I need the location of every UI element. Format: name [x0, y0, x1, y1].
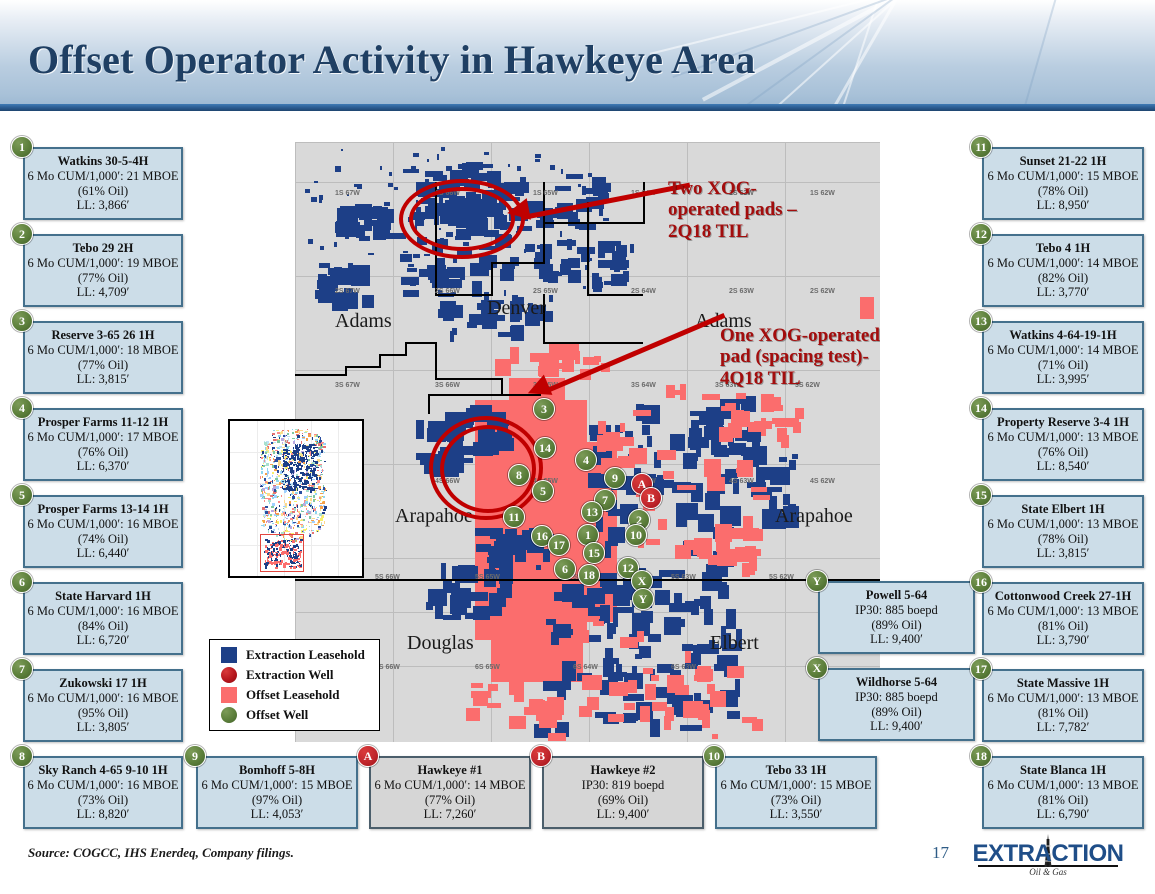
well-card-badge-2[interactable]: 2: [11, 223, 33, 245]
well-card-title: Powell 5-64: [866, 588, 927, 603]
well-card-metric: (77% Oil): [78, 358, 128, 373]
offset-leasehold-block: [753, 495, 770, 500]
inset-acreage-speck: [300, 520, 302, 521]
inset-acreage-speck: [302, 452, 304, 454]
extraction-leasehold-block: [400, 254, 412, 262]
county-boundary-segment: [643, 182, 645, 224]
well-card[interactable]: Sunset 21-22 1H6 Mo CUM/1,000′: 15 MBOE(…: [982, 147, 1144, 220]
well-card-metric: 6 Mo CUM/1,000′: 15 MBOE: [201, 778, 352, 793]
inset-acreage-speck: [312, 479, 315, 480]
inset-acreage-speck: [291, 478, 292, 479]
offset-leasehold-block: [559, 343, 571, 356]
inset-acreage-speck: [276, 457, 279, 459]
map-well-marker-5[interactable]: 5: [532, 480, 554, 502]
inset-acreage-speck: [274, 495, 277, 498]
extraction-leasehold-speck: [446, 166, 452, 171]
callout-ellipse-top-inner: [409, 187, 515, 251]
well-card[interactable]: Prosper Farms 13-14 1H6 Mo CUM/1,000′: 1…: [23, 495, 183, 568]
well-card[interactable]: Reserve 3-65 26 1H6 Mo CUM/1,000′: 18 MB…: [23, 321, 183, 394]
well-card-badge-A[interactable]: A: [357, 745, 379, 767]
well-card-metric: 6 Mo CUM/1,000′: 18 MBOE: [27, 343, 178, 358]
offset-leasehold-block: [651, 675, 659, 681]
map-well-marker-9[interactable]: 9: [604, 467, 626, 489]
extraction-leasehold-block: [497, 544, 509, 553]
well-card-metric: (77% Oil): [78, 271, 128, 286]
inset-acreage-speck: [314, 506, 315, 509]
well-card-badge-3[interactable]: 3: [11, 310, 33, 332]
extraction-leasehold-speck: [598, 282, 603, 288]
offset-leasehold-block: [694, 675, 705, 681]
inset-acreage-speck: [315, 488, 318, 489]
inset-acreage-speck: [269, 525, 272, 526]
map-well-marker-3[interactable]: 3: [533, 398, 555, 420]
inset-acreage-speck: [299, 479, 302, 482]
township-label: 6S 63W: [671, 664, 696, 671]
map-well-marker-18[interactable]: 18: [578, 564, 600, 586]
well-card[interactable]: Bomhoff 5-8H6 Mo CUM/1,000′: 15 MBOE(97%…: [196, 756, 358, 829]
inset-acreage-speck: [272, 480, 273, 483]
inset-acreage-speck: [276, 516, 277, 517]
well-card[interactable]: Cottonwood Creek 27-1H6 Mo CUM/1,000′: 1…: [982, 582, 1144, 655]
inset-acreage-speck: [310, 502, 311, 504]
legend-swatch-square: [221, 687, 237, 703]
offset-leasehold-block: [466, 708, 480, 721]
inset-acreage-speck: [279, 505, 280, 507]
extraction-leasehold-block: [609, 533, 618, 546]
inset-acreage-speck: [287, 516, 289, 517]
inset-acreage-speck: [288, 497, 291, 498]
inset-acreage-speck: [263, 497, 264, 498]
legend-item: Extraction Leasehold: [210, 645, 379, 665]
inset-acreage-speck: [321, 474, 323, 475]
well-card[interactable]: State Massive 1H6 Mo CUM/1,000′: 13 MBOE…: [982, 669, 1144, 742]
extraction-leasehold-block: [426, 602, 433, 610]
inset-acreage-speck: [290, 462, 293, 464]
well-card-metric: LL: 7,260′: [424, 807, 477, 822]
inset-acreage-speck: [283, 468, 284, 469]
well-card[interactable]: State Elbert 1H6 Mo CUM/1,000′: 13 MBOE(…: [982, 495, 1144, 568]
well-card[interactable]: Tebo 33 1H6 Mo CUM/1,000′: 15 MBOE(73% O…: [715, 756, 877, 829]
well-card-metric: IP30: 819 boepd: [582, 778, 665, 793]
map-well-marker-11[interactable]: 11: [503, 506, 525, 528]
offset-leasehold-block: [777, 428, 787, 442]
extraction-leasehold-block: [789, 460, 796, 470]
inset-acreage-speck: [281, 513, 283, 516]
inset-acreage-speck: [287, 475, 288, 476]
inset-acreage-speck: [271, 510, 274, 512]
extraction-leasehold-block: [705, 493, 720, 510]
county-boundary-segment: [501, 378, 503, 394]
offset-leasehold-block: [727, 666, 744, 678]
well-card[interactable]: Hawkeye #16 Mo CUM/1,000′: 14 MBOE(77% O…: [369, 756, 531, 829]
extraction-leasehold-speck: [583, 286, 586, 289]
inset-acreage-speck: [319, 477, 321, 480]
inset-acreage-speck: [274, 465, 277, 468]
well-card-metric: LL: 3,995′: [1037, 372, 1090, 387]
well-card-badge-8[interactable]: 8: [11, 745, 33, 767]
offset-leasehold-block: [509, 682, 524, 695]
inset-acreage-speck: [269, 502, 270, 504]
well-card[interactable]: Tebo 4 1H6 Mo CUM/1,000′: 14 MBOE(82% Oi…: [982, 234, 1144, 307]
map-well-marker-15[interactable]: 15: [583, 542, 605, 564]
offset-leasehold-block: [539, 712, 557, 728]
inset-acreage-speck: [313, 495, 315, 498]
well-card[interactable]: Watkins 30-5-4H6 Mo CUM/1,000′: 21 MBOE(…: [23, 147, 183, 220]
offset-leasehold-block: [772, 418, 778, 424]
inset-acreage-speck: [273, 442, 276, 443]
well-card-badge-12[interactable]: 12: [970, 223, 992, 245]
inset-acreage-speck: [315, 453, 318, 456]
inset-acreage-speck: [322, 469, 323, 472]
extraction-leasehold-block: [557, 240, 576, 246]
county-boundary-segment: [379, 354, 381, 368]
inset-acreage-speck: [306, 513, 308, 515]
legend-label: Extraction Well: [246, 667, 334, 683]
well-card-badge-6[interactable]: 6: [11, 571, 33, 593]
offset-leasehold-block: [717, 549, 737, 566]
inset-acreage-speck: [283, 508, 284, 509]
inset-acreage-speck: [304, 486, 307, 488]
inset-acreage-speck: [273, 430, 275, 431]
inset-acreage-speck: [293, 447, 294, 449]
legend-swatch-square: [221, 647, 237, 663]
offset-leasehold-block: [742, 717, 757, 723]
inset-acreage-speck: [297, 488, 298, 491]
map-well-marker-4[interactable]: 4: [575, 449, 597, 471]
inset-acreage-speck: [295, 446, 297, 448]
extraction-leasehold-block: [699, 413, 707, 425]
offset-leasehold-block: [795, 408, 804, 419]
inset-acreage-speck: [295, 478, 296, 479]
inset-acreage-speck: [261, 471, 263, 474]
township-label: 5S 63W: [671, 574, 696, 581]
offset-leasehold-block: [624, 703, 635, 710]
inset-overview-map[interactable]: [228, 419, 364, 578]
map-well-marker-Y[interactable]: Y: [632, 588, 654, 610]
inset-acreage-speck: [321, 450, 323, 453]
extraction-leasehold-block: [718, 445, 727, 454]
extraction-leasehold-speck: [561, 169, 563, 174]
extraction-leasehold-block: [593, 180, 605, 196]
inset-acreage-speck: [287, 456, 289, 457]
inset-acreage-speck: [262, 451, 264, 454]
inset-acreage-speck: [289, 489, 290, 492]
extraction-leasehold-block: [700, 596, 711, 609]
county-label: Douglas: [407, 632, 474, 655]
well-card[interactable]: Hawkeye #2IP30: 819 boepd(69% Oil)LL: 9,…: [542, 756, 704, 829]
well-card[interactable]: State Blanca 1H6 Mo CUM/1,000′: 13 MBOE(…: [982, 756, 1144, 829]
well-card-metric: (73% Oil): [78, 793, 128, 808]
inset-acreage-speck: [263, 520, 265, 523]
well-card-title: State Harvard 1H: [55, 589, 151, 604]
well-card-title: Watkins 4-64-19-1H: [1009, 328, 1116, 343]
offset-leasehold-block: [488, 684, 498, 691]
county-boundary-segment: [405, 342, 435, 344]
well-card-title: Tebo 33 1H: [766, 763, 827, 778]
extraction-leasehold-speck: [388, 183, 393, 187]
well-card-metric: (82% Oil): [1038, 271, 1088, 286]
county-boundary-segment: [295, 374, 345, 376]
inset-acreage-speck: [313, 460, 314, 462]
inset-acreage-speck: [315, 447, 318, 448]
well-card-badge-17[interactable]: 17: [970, 658, 992, 680]
inset-acreage-speck: [308, 481, 309, 483]
extraction-leasehold-block: [500, 269, 514, 281]
inset-acreage-speck: [318, 486, 321, 489]
extraction-leasehold-block: [335, 222, 339, 233]
well-card[interactable]: State Harvard 1H6 Mo CUM/1,000′: 16 MBOE…: [23, 582, 183, 655]
well-card-badge-X[interactable]: X: [806, 657, 828, 679]
well-card[interactable]: Wildhorse 5-64IP30: 885 boepd(89% Oil)LL…: [818, 668, 975, 741]
extraction-leasehold-block: [340, 206, 358, 217]
extraction-leasehold-block: [577, 247, 595, 254]
township-label: 3S 67W: [335, 382, 360, 389]
well-card-metric: (71% Oil): [1038, 358, 1088, 373]
well-card-badge-9[interactable]: 9: [184, 745, 206, 767]
extraction-leasehold-speck: [357, 184, 362, 189]
well-card-metric: (78% Oil): [1038, 184, 1088, 199]
inset-acreage-speck: [290, 484, 291, 485]
extraction-leasehold-block: [676, 512, 687, 527]
extraction-leasehold-block: [792, 454, 798, 459]
inset-acreage-speck: [293, 472, 294, 474]
inset-acreage-speck: [273, 462, 275, 463]
inset-acreage-speck: [274, 480, 275, 481]
extraction-leasehold-speck: [578, 184, 581, 187]
extraction-leasehold-block: [714, 664, 725, 671]
inset-acreage-speck: [320, 493, 323, 494]
legend-label: Extraction Leasehold: [246, 647, 365, 663]
extraction-leasehold-block: [317, 280, 336, 289]
extraction-leasehold-speck: [334, 242, 337, 247]
offset-leasehold-block: [593, 621, 604, 626]
inset-acreage-speck: [283, 435, 285, 437]
well-card-badge-13[interactable]: 13: [970, 310, 992, 332]
well-card-badge-18[interactable]: 18: [970, 745, 992, 767]
well-card-badge-16[interactable]: 16: [970, 571, 992, 593]
extraction-leasehold-block: [616, 664, 622, 673]
well-card-badge-1[interactable]: 1: [11, 136, 33, 158]
inset-acreage-speck: [302, 459, 304, 462]
well-card-metric: (61% Oil): [78, 184, 128, 199]
legend-label: Offset Well: [246, 707, 308, 723]
inset-acreage-speck: [265, 481, 267, 483]
township-label: 2S 62W: [810, 288, 835, 295]
map-well-marker-14[interactable]: 14: [534, 437, 556, 459]
inset-focus-box: [260, 534, 304, 572]
well-card-badge-4[interactable]: 4: [11, 397, 33, 419]
well-card-metric: 6 Mo CUM/1,000′: 21 MBOE: [27, 169, 178, 184]
extraction-leasehold-block: [623, 271, 629, 282]
township-label: 4S 63W: [729, 478, 754, 485]
extraction-leasehold-block: [726, 609, 736, 629]
inset-acreage-speck: [313, 510, 314, 512]
extraction-leasehold-speck: [308, 239, 313, 244]
inset-acreage-speck: [306, 449, 308, 450]
extraction-leasehold-speck: [311, 197, 317, 202]
well-card-badge-10[interactable]: 10: [703, 745, 725, 767]
inset-acreage-speck: [292, 432, 294, 434]
well-card[interactable]: Tebo 29 2H6 Mo CUM/1,000′: 19 MBOE(77% O…: [23, 234, 183, 307]
extraction-leasehold-block: [566, 174, 583, 179]
inset-acreage-speck: [260, 457, 261, 458]
extraction-leasehold-block: [403, 290, 419, 297]
extraction-leasehold-block: [469, 592, 488, 601]
well-card-title: State Elbert 1H: [1021, 502, 1104, 517]
extraction-leasehold-block: [358, 277, 364, 286]
offset-leasehold-block: [742, 566, 750, 577]
extraction-leasehold-speck: [314, 181, 318, 183]
extraction-leasehold-block: [371, 207, 388, 215]
map-well-marker-10[interactable]: 10: [625, 524, 647, 546]
well-card-metric: LL: 8,540′: [1037, 459, 1090, 474]
inset-acreage-speck: [320, 460, 322, 461]
township-label: 3S 64W: [631, 382, 656, 389]
offset-leasehold-block: [663, 471, 674, 479]
offset-leasehold-block: [735, 410, 744, 416]
extraction-leasehold-block: [680, 725, 702, 731]
inset-acreage-speck: [296, 484, 299, 486]
extraction-leasehold-block: [598, 248, 605, 258]
inset-acreage-speck: [295, 492, 298, 494]
inset-acreage-speck: [282, 456, 284, 457]
well-card[interactable]: Property Reserve 3-4 1H6 Mo CUM/1,000′: …: [982, 408, 1144, 481]
well-card-metric: (76% Oil): [1038, 445, 1088, 460]
inset-acreage-speck: [322, 491, 325, 492]
inset-acreage-speck: [309, 496, 312, 497]
extraction-leasehold-block: [727, 711, 740, 719]
well-card-badge-Y[interactable]: Y: [806, 570, 828, 592]
township-label: 2S 67W: [335, 288, 360, 295]
well-card[interactable]: Prosper Farms 11-12 1H6 Mo CUM/1,000′: 1…: [23, 408, 183, 481]
well-card-metric: 6 Mo CUM/1,000′: 16 MBOE: [27, 517, 178, 532]
well-card-badge-7[interactable]: 7: [11, 658, 33, 680]
inset-acreage-speck: [275, 459, 278, 462]
inset-acreage-speck: [287, 436, 290, 437]
inset-acreage-speck: [297, 527, 300, 528]
well-card[interactable]: Sky Ranch 4-65 9-10 1H6 Mo CUM/1,000′: 1…: [23, 756, 183, 829]
inset-acreage-speck: [321, 491, 322, 492]
inset-acreage-speck: [288, 450, 290, 451]
offset-leasehold-block: [587, 697, 599, 710]
well-card-badge-B[interactable]: B: [530, 745, 552, 767]
inset-acreage-speck: [272, 523, 274, 524]
well-card-metric: 6 Mo CUM/1,000′: 13 MBOE: [987, 691, 1138, 706]
inset-acreage-speck: [297, 457, 299, 460]
well-card-badge-14[interactable]: 14: [970, 397, 992, 419]
well-card-title: Hawkeye #1: [418, 763, 483, 778]
extraction-leasehold-speck: [335, 166, 341, 172]
inset-acreage-speck: [296, 438, 298, 439]
township-label: 5S 65W: [475, 574, 500, 581]
extraction-leasehold-block: [476, 544, 491, 552]
inset-acreage-speck: [286, 530, 288, 532]
offset-leasehold-block: [707, 477, 725, 491]
inset-acreage-speck: [303, 447, 306, 449]
well-card[interactable]: Watkins 4-64-19-1H6 Mo CUM/1,000′: 14 MB…: [982, 321, 1144, 394]
inset-acreage-speck: [308, 504, 309, 505]
well-card[interactable]: Powell 5-64IP30: 885 boepd(89% Oil)LL: 9…: [818, 581, 975, 654]
well-card-metric: LL: 3,550′: [770, 807, 823, 822]
inset-acreage-speck: [268, 454, 269, 457]
well-card-metric: 6 Mo CUM/1,000′: 15 MBOE: [720, 778, 871, 793]
inset-acreage-speck: [315, 499, 316, 500]
county-label: Adams: [335, 310, 392, 333]
inset-acreage-speck: [290, 526, 292, 529]
county-boundary-segment: [435, 378, 501, 380]
annotation-line: One XOG-operated: [720, 325, 880, 346]
map-well-marker-8[interactable]: 8: [508, 464, 530, 486]
map-well-marker-6[interactable]: 6: [554, 558, 576, 580]
well-card-metric: 6 Mo CUM/1,000′: 16 MBOE: [27, 691, 178, 706]
well-card-metric: 6 Mo CUM/1,000′: 13 MBOE: [987, 778, 1138, 793]
inset-acreage-speck: [267, 518, 270, 519]
inset-acreage-speck: [301, 461, 302, 462]
extraction-leasehold-block: [452, 602, 467, 615]
extraction-leasehold-speck: [537, 245, 542, 249]
inset-acreage-speck: [277, 440, 280, 443]
extraction-leasehold-speck: [384, 227, 386, 230]
offset-leasehold-block: [548, 733, 566, 741]
township-label: 2S 66W: [435, 288, 460, 295]
well-card-badge-5[interactable]: 5: [11, 484, 33, 506]
extraction-leasehold-speck: [368, 253, 374, 255]
offset-leasehold-block: [495, 359, 511, 376]
offset-leasehold-block: [665, 707, 674, 721]
offset-leasehold-block: [609, 682, 628, 696]
inset-acreage-speck: [265, 447, 266, 450]
inset-acreage-speck: [311, 530, 312, 531]
extraction-leasehold-block: [655, 590, 670, 605]
map-canvas[interactable]: 1S 67W1S 66W1S 65W1S 64W1S 63W1S 62W2S 6…: [295, 142, 880, 742]
offset-leasehold-block: [704, 459, 721, 477]
well-card[interactable]: Zukowski 17 1H6 Mo CUM/1,000′: 16 MBOE(9…: [23, 669, 183, 742]
inset-acreage-speck: [261, 498, 264, 499]
inset-acreage-speck: [264, 442, 267, 445]
inset-acreage-speck: [292, 429, 293, 430]
inset-acreage-speck: [312, 532, 314, 534]
inset-acreage-speck: [317, 531, 318, 532]
extraction-leasehold-speck: [550, 165, 555, 170]
well-card-badge-11[interactable]: 11: [970, 136, 992, 158]
inset-acreage-speck: [270, 495, 273, 497]
map-well-marker-B[interactable]: B: [640, 487, 662, 509]
extraction-leasehold-block: [560, 264, 571, 275]
extraction-leasehold-speck: [441, 147, 445, 151]
page-title: Offset Operator Activity in Hawkeye Area: [28, 36, 756, 83]
well-card-title: Tebo 29 2H: [73, 241, 134, 256]
inset-acreage-speck: [270, 459, 271, 461]
inset-acreage-speck: [316, 477, 318, 480]
extraction-leasehold-block: [487, 557, 494, 563]
extraction-leasehold-block: [783, 494, 790, 505]
extraction-leasehold-speck: [424, 270, 430, 275]
map-well-marker-17[interactable]: 17: [548, 534, 570, 556]
extraction-leasehold-block: [702, 572, 722, 591]
inset-acreage-speck: [312, 464, 314, 466]
extraction-leasehold-block: [495, 553, 513, 568]
extraction-leasehold-block: [647, 436, 652, 447]
well-card-badge-15[interactable]: 15: [970, 484, 992, 506]
map-well-marker-13[interactable]: 13: [581, 501, 603, 523]
inset-acreage-speck: [264, 457, 265, 460]
inset-acreage-speck: [287, 463, 289, 465]
offset-leasehold-block: [731, 528, 743, 539]
inset-acreage-speck: [283, 466, 286, 467]
extraction-leasehold-block: [759, 446, 767, 465]
inset-acreage-speck: [283, 484, 285, 485]
offset-leasehold-block: [620, 637, 638, 648]
